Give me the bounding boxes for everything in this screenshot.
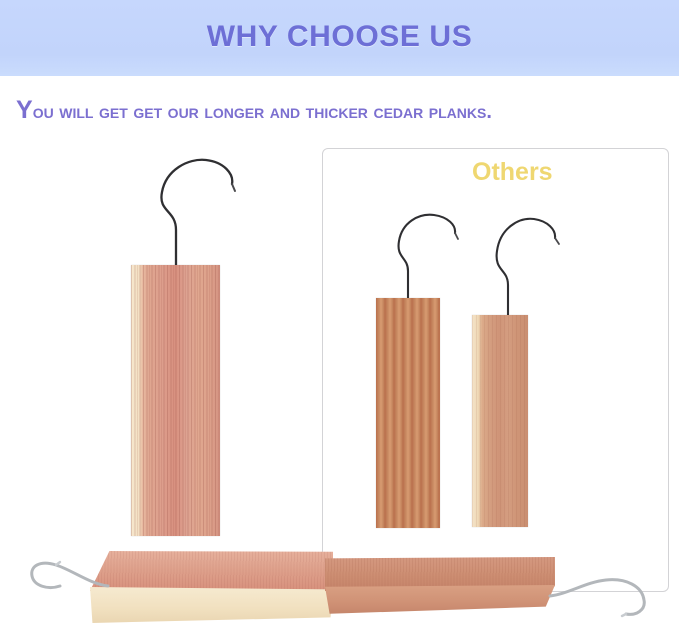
subtitle-lead-letter: Y (16, 96, 33, 124)
page-title: WHY CHOOSE US (0, 20, 679, 54)
others-smooth-hook-icon (482, 205, 572, 320)
promotional-image: WHY CHOOSE US You will get get our longe… (0, 0, 679, 635)
others-smooth-cedar-plank (472, 315, 528, 527)
our-plank-thickness-edge (90, 587, 333, 627)
subtitle-text: You will get get our longer and thicker … (16, 96, 492, 125)
our-flat-plank-hook-icon (24, 552, 110, 602)
subtitle-rest: ou will get get our longer and thicker c… (33, 101, 492, 123)
others-plank-thickness-edge (325, 585, 555, 615)
our-thick-plank-side-view (90, 551, 333, 627)
others-thin-plank-side-view (325, 557, 555, 625)
others-label: Others (472, 158, 553, 187)
others-ribbed-hook-icon (385, 205, 475, 305)
our-cedar-plank (131, 265, 220, 536)
our-hanger-hook-icon (140, 150, 250, 275)
our-plank-top-face (90, 551, 333, 591)
others-ribbed-cedar-plank (376, 298, 440, 528)
others-flat-plank-hook-icon (546, 560, 656, 622)
